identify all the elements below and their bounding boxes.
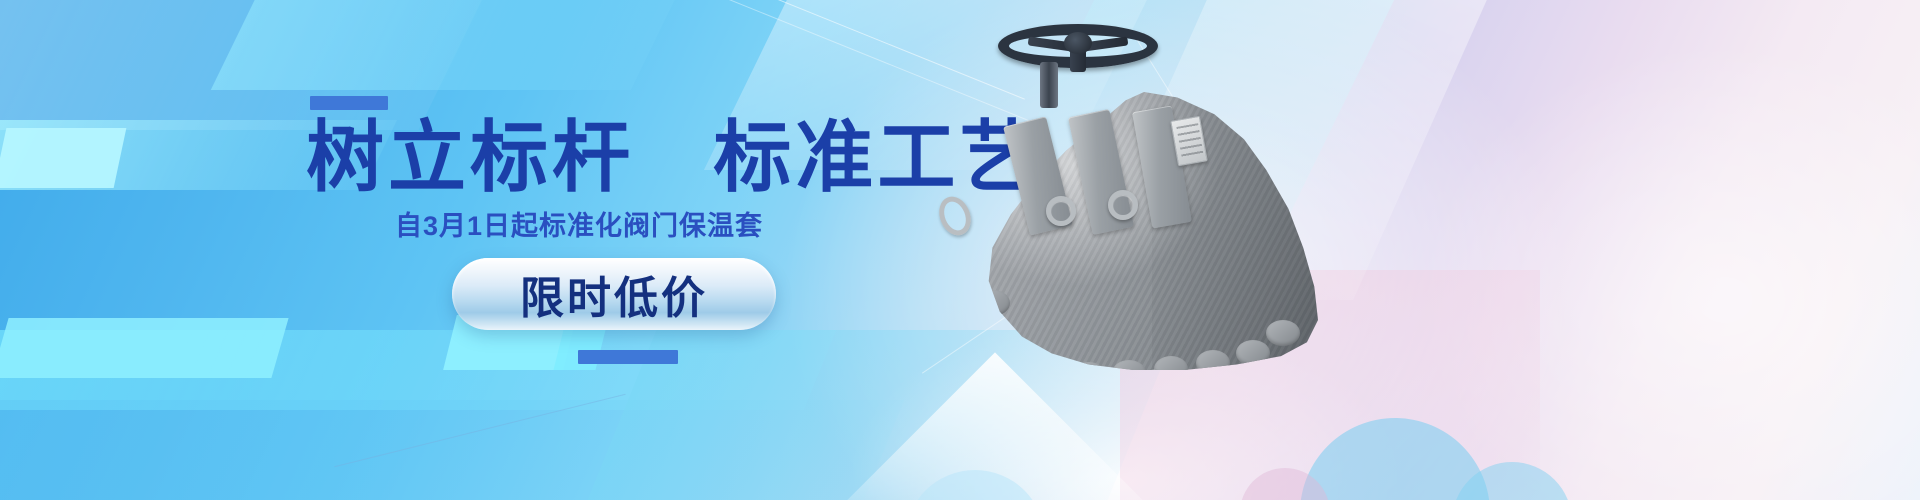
valve-stem	[1040, 62, 1058, 108]
decorative-bubble-4	[1240, 468, 1330, 500]
product-label-lines	[1176, 123, 1203, 158]
jacket-quilt-bump	[978, 338, 1012, 364]
insulation-jacket-body: CovHot	[948, 92, 1318, 370]
background-glow-right	[1415, 40, 1920, 500]
jacket-quilt-bump	[1000, 354, 1034, 380]
banner-text-block: 树立标杆 标准工艺 自3月1日起标准化阀门保温套 限时低价	[0, 0, 960, 500]
valve-handwheel-icon	[998, 24, 1158, 76]
jacket-quilt-bump	[970, 314, 1004, 340]
jacket-buckle	[1046, 196, 1076, 226]
jacket-quilt-bump	[1236, 340, 1270, 366]
accent-bar-bottom	[578, 350, 678, 364]
banner-subtitle: 自3月1日起标准化阀门保温套	[395, 212, 763, 242]
cta-label: 限时低价	[520, 262, 708, 326]
jacket-quilt-bump	[1266, 320, 1300, 346]
jacket-quilt-bump	[1072, 362, 1106, 388]
limited-time-offer-button[interactable]: 限时低价	[452, 258, 776, 330]
product-image-valve-insulation-jacket: CovHot	[930, 0, 1360, 400]
jacket-quilt-bump	[1112, 360, 1146, 386]
jacket-quilt-bump	[1034, 360, 1068, 386]
handwheel-hub	[1064, 32, 1092, 54]
accent-bar-top	[310, 96, 388, 110]
product-brand-text: CovHot	[1144, 364, 1242, 395]
jacket-quilt-bump	[976, 290, 1010, 316]
jacket-buckle	[1108, 190, 1138, 220]
decorative-bubble-1	[1300, 418, 1490, 500]
promo-banner: 树立标杆 标准工艺 自3月1日起标准化阀门保温套 限时低价	[0, 0, 1920, 500]
jacket-d-ring	[934, 192, 977, 240]
decorative-bubble-2	[1452, 462, 1572, 500]
jacket-quilt-bump	[1196, 350, 1230, 376]
headline-part-1: 树立标杆	[306, 113, 634, 201]
